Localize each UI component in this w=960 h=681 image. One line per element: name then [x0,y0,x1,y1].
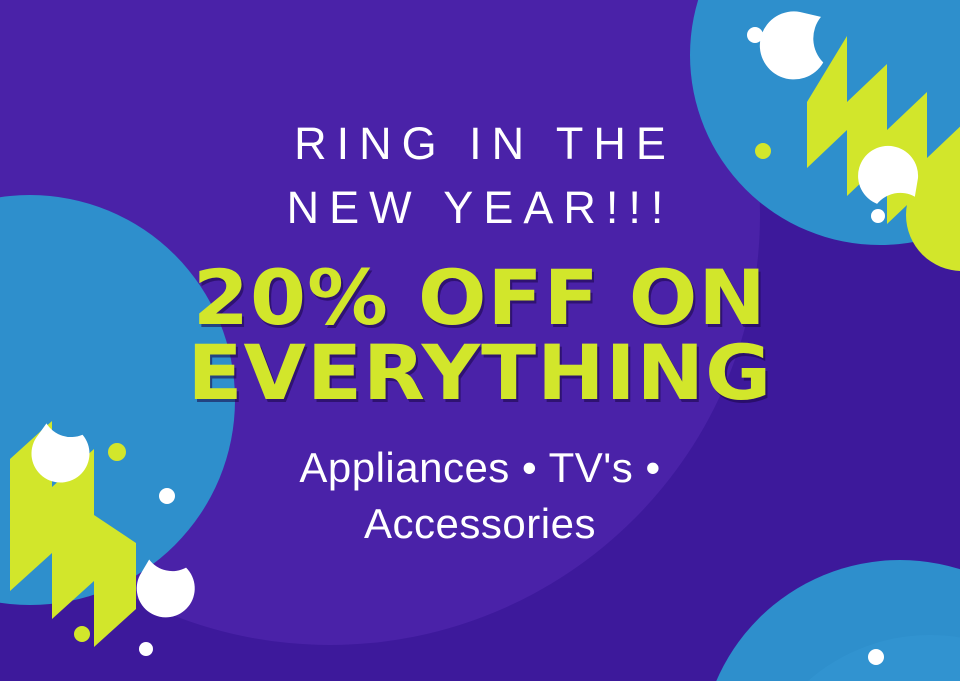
discount-text: 20% OFF ON EVERYTHING [188,240,773,410]
banner-content: RING IN THE NEW YEAR!!! 20% OFF ON EVERY… [0,0,960,681]
promotional-banner: RING IN THE NEW YEAR!!! 20% OFF ON EVERY… [0,0,960,681]
product-list-text: Appliances • TV's • Accessories [245,410,715,551]
headline-text: RING IN THE NEW YEAR!!! [284,0,676,240]
